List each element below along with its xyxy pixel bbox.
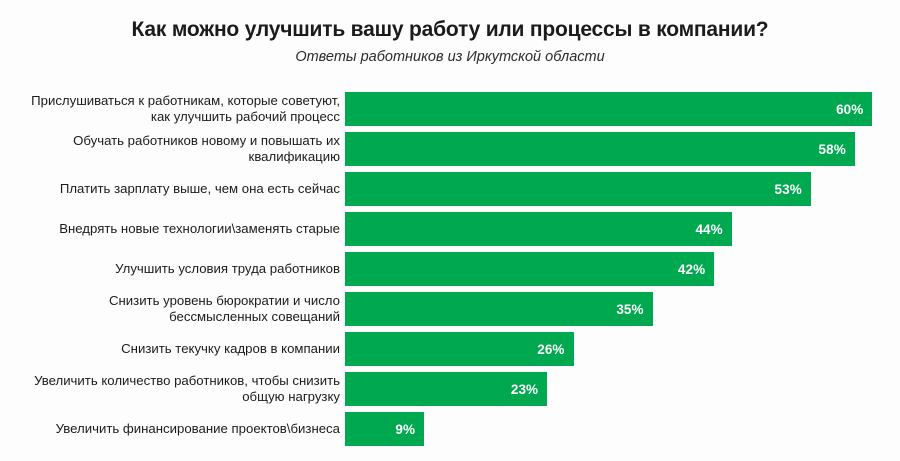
bar-track: 53% [345, 172, 900, 206]
bar-category-label: Обучать работников новому и повышать их … [0, 133, 345, 165]
bar-row: Платить зарплату выше, чем она есть сейч… [0, 172, 900, 206]
bar-category-label: Снизить уровень бюрократии и число бессм… [0, 293, 345, 325]
bar-value-label: 9% [395, 422, 415, 437]
bar-category-label: Увеличить количество работников, чтобы с… [0, 373, 345, 405]
bar-fill: 35% [345, 292, 653, 326]
bar-fill: 58% [345, 132, 855, 166]
bar-track: 35% [345, 292, 900, 326]
plot-area: Прислушиваться к работникам, которые сов… [0, 92, 900, 452]
bar-track: 60% [345, 92, 900, 126]
chart-subtitle: Ответы работников из Иркутской области [0, 41, 900, 66]
chart-title: Как можно улучшить вашу работу или проце… [0, 0, 900, 41]
bar-chart: Как можно улучшить вашу работу или проце… [0, 0, 900, 461]
bar-track: 58% [345, 132, 900, 166]
bar-category-label: Увеличить финансирование проектов\бизнес… [0, 421, 345, 437]
bar-row: Обучать работников новому и повышать их … [0, 132, 900, 166]
bar-value-label: 35% [616, 302, 643, 317]
bar-category-label: Улучшить условия труда работников [0, 261, 345, 277]
bar-value-label: 26% [537, 342, 564, 357]
bar-value-label: 58% [819, 142, 846, 157]
bar-category-label: Платить зарплату выше, чем она есть сейч… [0, 181, 345, 197]
bar-track: 26% [345, 332, 900, 366]
bar-category-label: Снизить текучку кадров в компании [0, 341, 345, 357]
bar-fill: 42% [345, 252, 714, 286]
bar-value-label: 53% [775, 182, 802, 197]
bar-fill: 53% [345, 172, 811, 206]
bar-category-label: Внедрять новые технологии\заменять стары… [0, 221, 345, 237]
bar-value-label: 23% [511, 382, 538, 397]
bar-track: 44% [345, 212, 900, 246]
bar-row: Снизить текучку кадров в компании26% [0, 332, 900, 366]
bar-track: 42% [345, 252, 900, 286]
bar-row: Снизить уровень бюрократии и число бессм… [0, 292, 900, 326]
bar-fill: 26% [345, 332, 574, 366]
bar-row: Улучшить условия труда работников42% [0, 252, 900, 286]
bar-track: 23% [345, 372, 900, 406]
bar-row: Внедрять новые технологии\заменять стары… [0, 212, 900, 246]
bar-row: Прислушиваться к работникам, которые сов… [0, 92, 900, 126]
bar-value-label: 42% [678, 262, 705, 277]
bar-fill: 44% [345, 212, 732, 246]
bar-fill: 60% [345, 92, 872, 126]
bar-value-label: 44% [695, 222, 722, 237]
bar-fill: 9% [345, 412, 424, 446]
bar-row: Увеличить финансирование проектов\бизнес… [0, 412, 900, 446]
bar-row: Увеличить количество работников, чтобы с… [0, 372, 900, 406]
bar-fill: 23% [345, 372, 547, 406]
bar-track: 9% [345, 412, 900, 446]
bar-value-label: 60% [836, 102, 863, 117]
bar-category-label: Прислушиваться к работникам, которые сов… [0, 93, 345, 125]
